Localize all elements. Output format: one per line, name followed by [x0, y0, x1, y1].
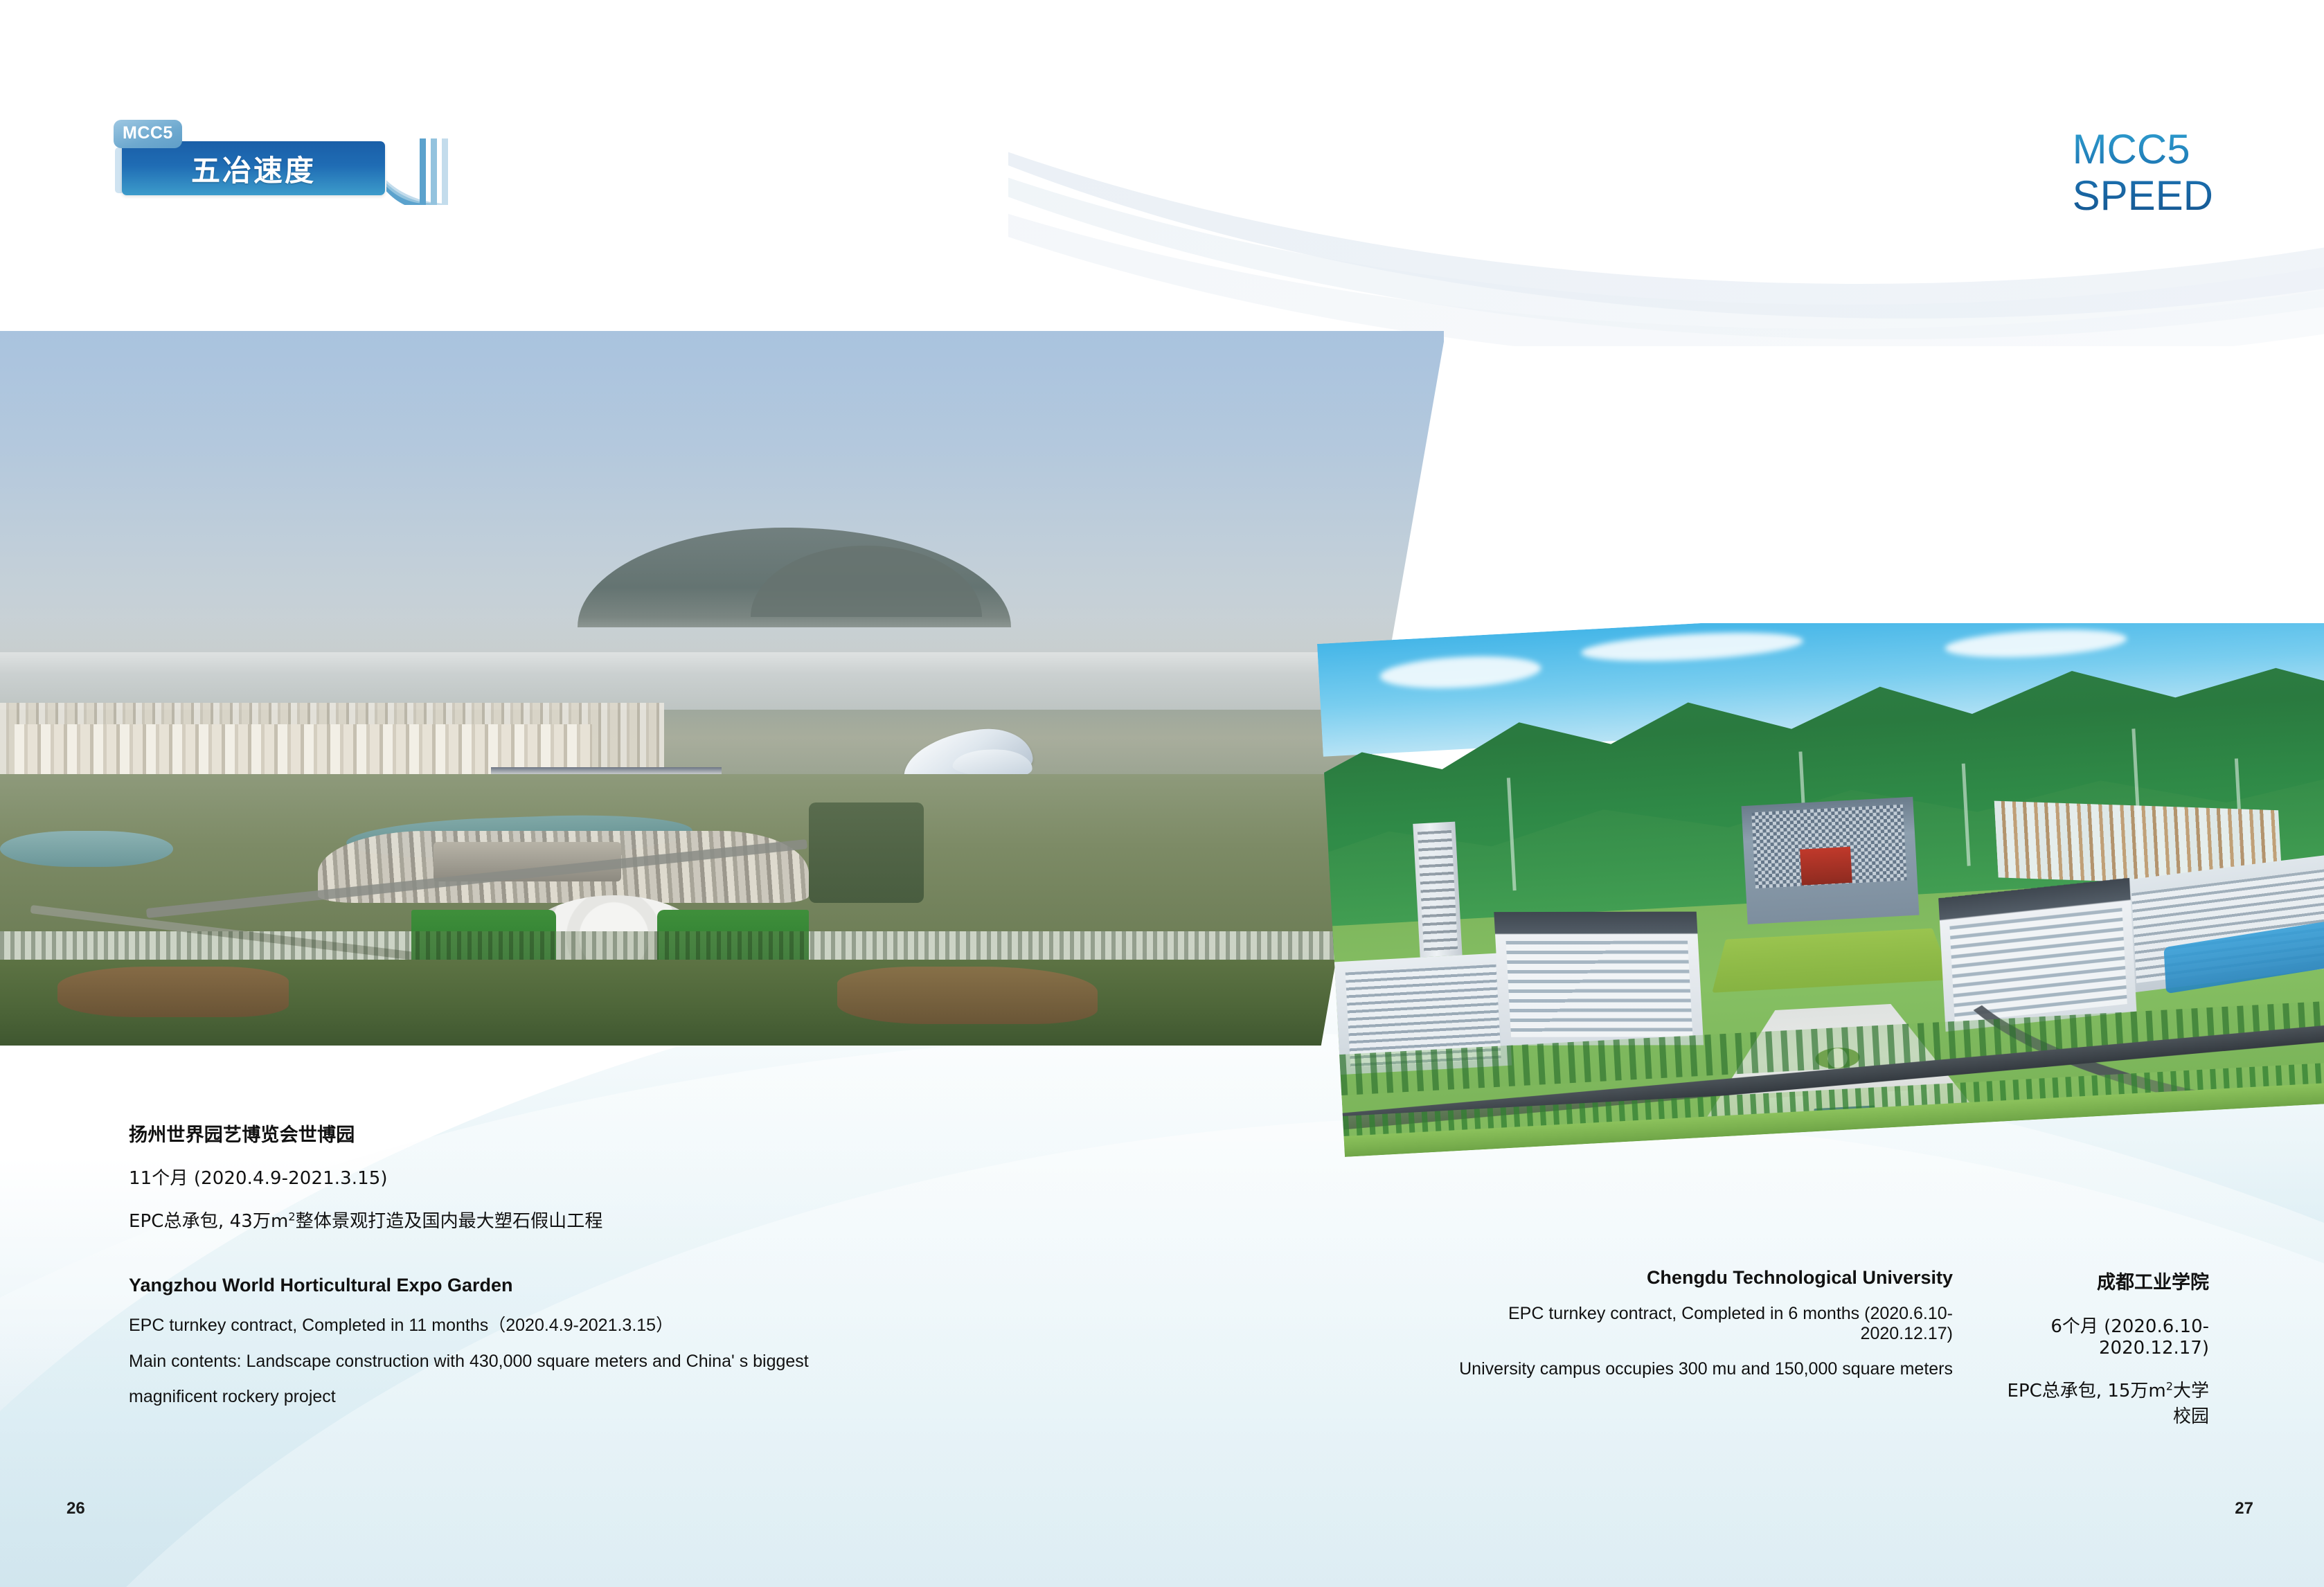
left-title-en: Yangzhou World Horticultural Expo Garden — [129, 1275, 994, 1296]
section-header-tab: 五冶速度 MCC5 — [122, 141, 385, 195]
yangzhou-expo-photo — [0, 331, 1444, 1046]
page-number-left: 26 — [66, 1499, 85, 1518]
left-line3-en: magnificent rockery project — [129, 1387, 994, 1407]
left-project-caption: 扬州世界园艺博览会世博园 11个月 (2020.4.9-2021.3.15) E… — [129, 1120, 994, 1422]
right-title-en: Chengdu Technological University — [1427, 1267, 1953, 1289]
right-scope-cn-post: 大学校园 — [2173, 1381, 2209, 1427]
right-scope-cn: EPC总承包, 15万m2大学校园 — [1994, 1377, 2209, 1428]
left-scope-cn: EPC总承包, 43万m2整体景观打造及国内最大塑石假山工程 — [129, 1207, 994, 1232]
page-number-right: 27 — [2235, 1499, 2253, 1518]
section-title-cn: 五冶速度 — [122, 141, 385, 195]
right-duration-cn: 6个月 (2020.6.10-2020.12.17) — [1994, 1312, 2209, 1359]
brand-wordmark: MCC5 SPEED — [2073, 126, 2213, 219]
left-line2-en: Main contents: Landscape construction wi… — [129, 1352, 994, 1372]
brand-line-1: MCC5 — [2073, 126, 2213, 172]
left-line1-en: EPC turnkey contract, Completed in 11 mo… — [129, 1311, 994, 1336]
mcc5-badge: MCC5 — [114, 120, 182, 148]
right-line2-en: University campus occupies 300 mu and 15… — [1427, 1359, 1953, 1379]
right-line1-en: EPC turnkey contract, Completed in 6 mon… — [1427, 1304, 1953, 1344]
left-title-cn: 扬州世界园艺博览会世博园 — [129, 1120, 994, 1147]
left-scope-cn-post: 整体景观打造及国内最大塑石假山工程 — [296, 1211, 603, 1232]
right-project-caption-en: Chengdu Technological University EPC tur… — [1427, 1267, 1953, 1395]
tab-ribbon-tails — [386, 138, 463, 205]
brand-line-2: SPEED — [2073, 172, 2213, 219]
right-scope-cn-sup: 2 — [2166, 1379, 2173, 1392]
left-duration-cn: 11个月 (2020.4.9-2021.3.15) — [129, 1164, 994, 1190]
right-project-caption-cn: 成都工业学院 6个月 (2020.6.10-2020.12.17) EPC总承包… — [1994, 1267, 2209, 1446]
left-scope-cn-pre: EPC总承包, 43万m — [129, 1211, 288, 1232]
right-scope-cn-pre: EPC总承包, 15万m — [2008, 1381, 2166, 1401]
right-title-cn: 成都工业学院 — [1994, 1267, 2209, 1294]
brochure-page: 五冶速度 MCC5 MCC5 SPEED — [0, 0, 2324, 1587]
left-scope-cn-sup: 2 — [288, 1210, 295, 1223]
